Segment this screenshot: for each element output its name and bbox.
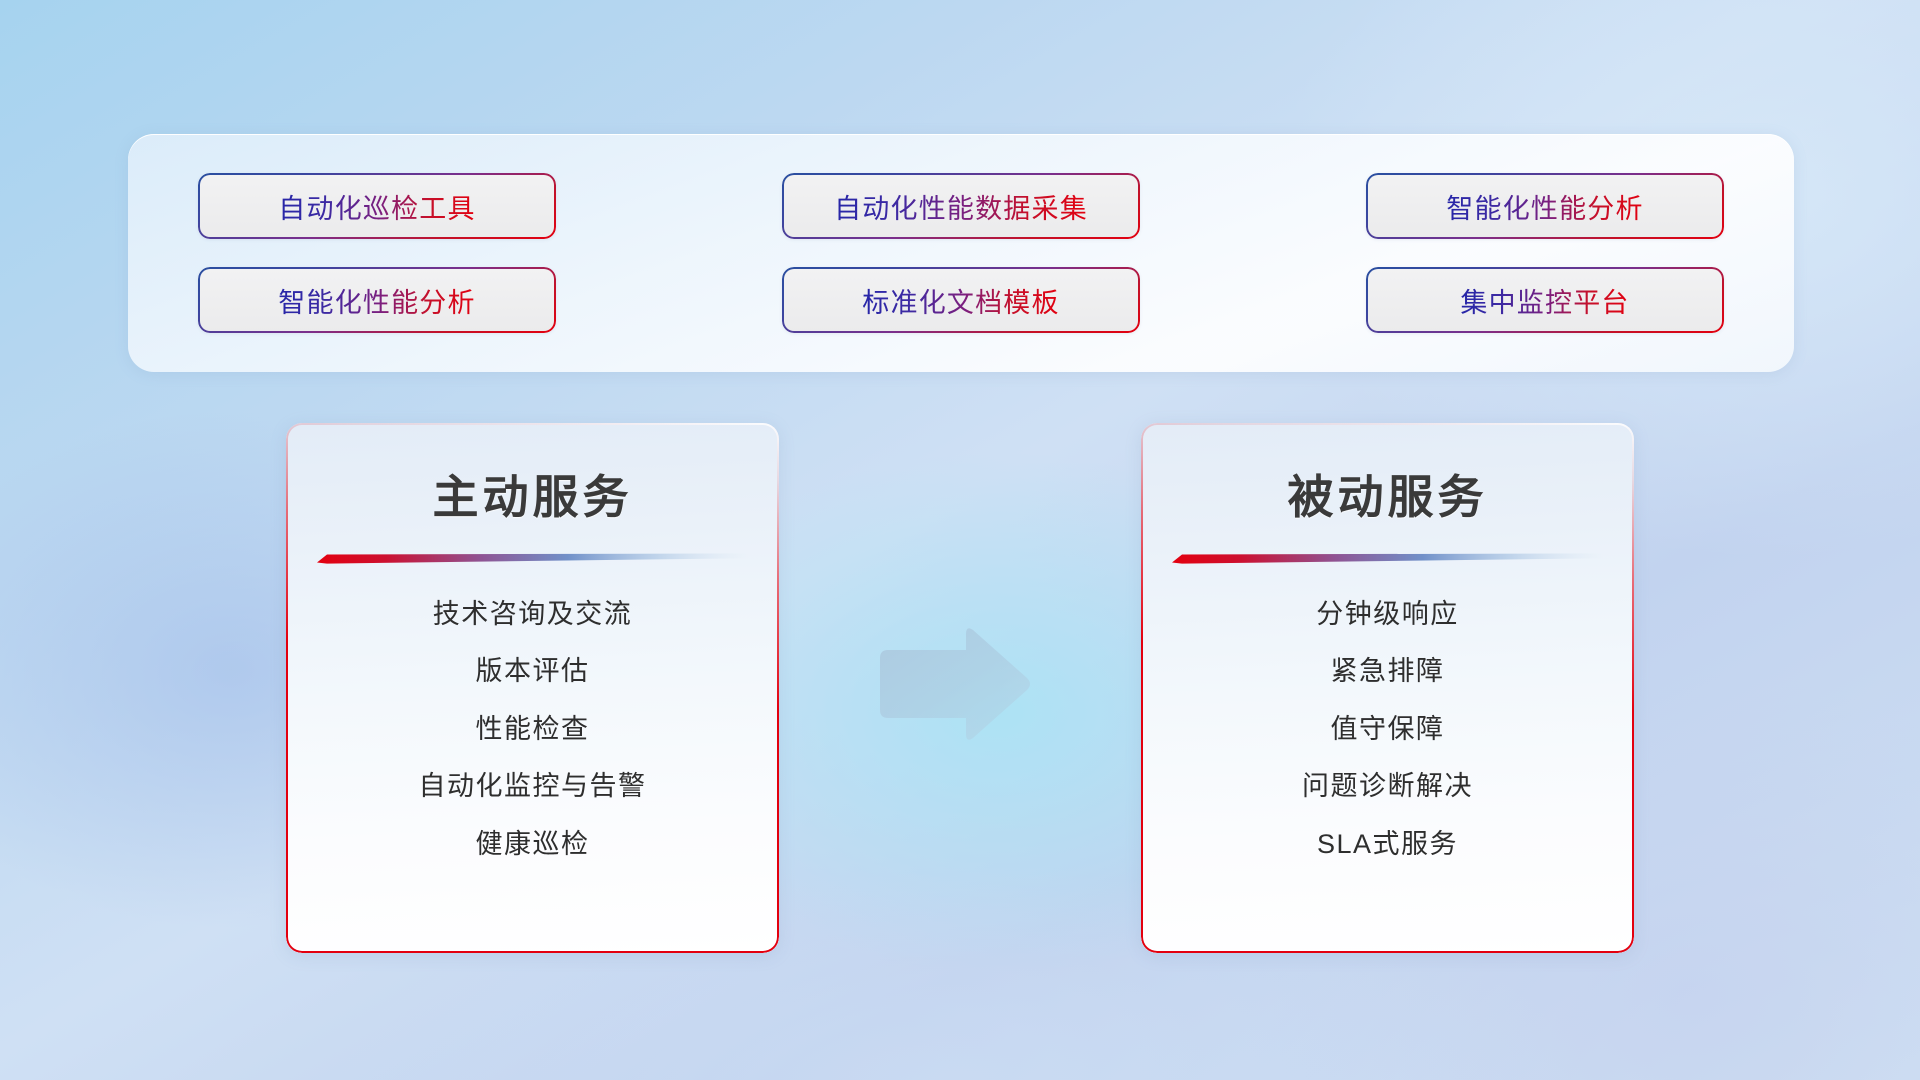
list-item: 性能检查 bbox=[476, 713, 590, 745]
service-card-proactive: 主动服务 技术咨询及交流 版本评估 性能检查 bbox=[286, 423, 779, 953]
capability-tag-label: 集中监控平台 bbox=[1460, 281, 1629, 320]
capability-tag-label: 智能化性能分析 bbox=[1446, 187, 1643, 226]
capability-tag-label: 标准化文档模板 bbox=[862, 281, 1059, 320]
service-item-list: 分钟级响应 紧急排障 值守保障 问题诊断解决 SLA式服务 bbox=[1141, 598, 1634, 860]
list-item: 分钟级响应 bbox=[1316, 598, 1459, 630]
list-item: 技术咨询及交流 bbox=[433, 598, 633, 630]
capability-tag[interactable]: 自动化性能数据采集 bbox=[782, 173, 1140, 239]
card-divider bbox=[317, 553, 749, 564]
capability-tag-label: 自动化巡检工具 bbox=[278, 187, 475, 226]
service-card-title: 被动服务 bbox=[1141, 461, 1634, 527]
capability-tag[interactable]: 智能化性能分析 bbox=[1366, 173, 1724, 239]
list-item: 值守保障 bbox=[1331, 713, 1445, 745]
slide-canvas: 自动化巡检工具 自动化性能数据采集 智能化性能分析 智能化性能分析 标准化文档模… bbox=[0, 0, 1920, 1080]
capability-tag[interactable]: 自动化巡检工具 bbox=[198, 173, 556, 239]
card-divider bbox=[1172, 553, 1604, 564]
list-item: 版本评估 bbox=[476, 655, 590, 687]
capability-tag[interactable]: 标准化文档模板 bbox=[782, 267, 1140, 333]
capability-tag-label: 自动化性能数据采集 bbox=[834, 187, 1088, 226]
capability-row-2: 智能化性能分析 标准化文档模板 集中监控平台 bbox=[198, 267, 1724, 333]
list-item: SLA式服务 bbox=[1317, 828, 1458, 860]
list-item: 问题诊断解决 bbox=[1302, 770, 1473, 802]
list-item: 健康巡检 bbox=[476, 828, 590, 860]
capability-tag-label: 智能化性能分析 bbox=[278, 281, 475, 320]
capability-row-1: 自动化巡检工具 自动化性能数据采集 智能化性能分析 bbox=[198, 173, 1724, 239]
list-item: 自动化监控与告警 bbox=[419, 770, 647, 802]
service-card-reactive: 被动服务 分钟级响应 紧急排障 值守保障 bbox=[1141, 423, 1634, 953]
service-item-list: 技术咨询及交流 版本评估 性能检查 自动化监控与告警 健康巡检 bbox=[286, 598, 779, 860]
right-arrow-icon bbox=[874, 624, 1034, 744]
capability-panel: 自动化巡检工具 自动化性能数据采集 智能化性能分析 智能化性能分析 标准化文档模… bbox=[128, 134, 1794, 372]
service-card-title: 主动服务 bbox=[286, 461, 779, 527]
capability-tag[interactable]: 集中监控平台 bbox=[1366, 267, 1724, 333]
list-item: 紧急排障 bbox=[1331, 655, 1445, 687]
capability-tag[interactable]: 智能化性能分析 bbox=[198, 267, 556, 333]
